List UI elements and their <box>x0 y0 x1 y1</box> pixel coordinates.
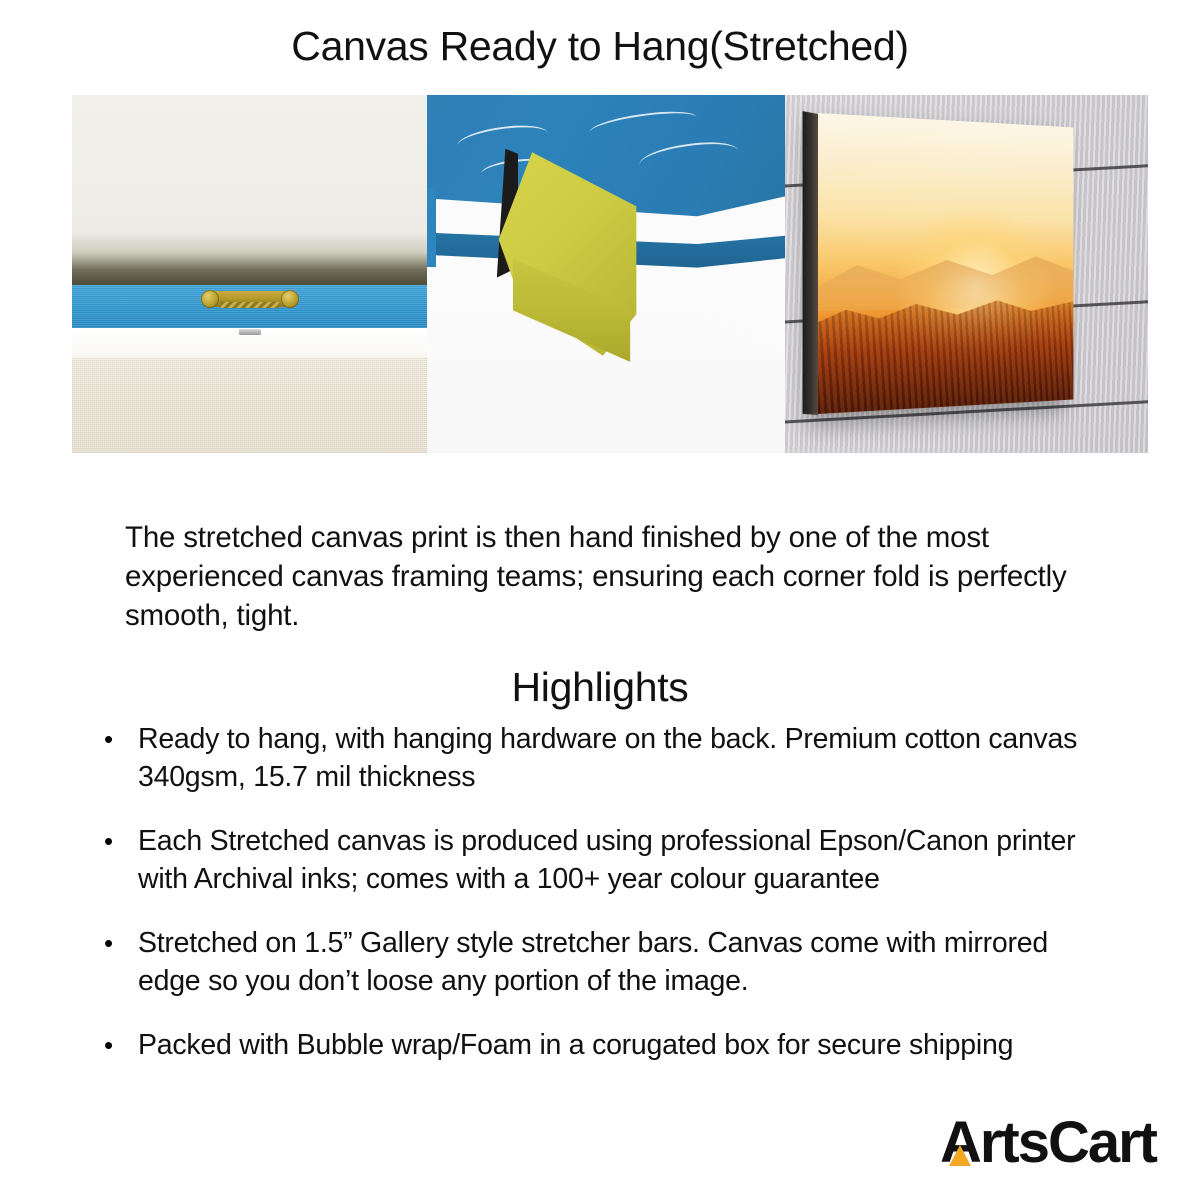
list-item: • Each Stretched canvas is produced usin… <box>104 822 1114 898</box>
photo-canvas-hung-on-wall <box>785 95 1148 453</box>
photo-canvas-back-hanging-hardware <box>72 95 427 453</box>
cloud-wisp <box>638 137 741 179</box>
list-item-text: Ready to hang, with hanging hardware on … <box>138 720 1114 796</box>
list-item-text: Each Stretched canvas is produced using … <box>138 822 1114 898</box>
canvas-depth-side <box>802 111 817 415</box>
hanger-screw-right <box>281 290 299 308</box>
canvas-sunset-artwork <box>818 113 1073 414</box>
orange-triangle-icon <box>949 1145 971 1166</box>
canvas-cotton-weave <box>72 358 427 453</box>
photo-canvas-corner-fold <box>427 95 785 453</box>
cloud-wisp <box>588 107 698 144</box>
list-item: • Stretched on 1.5” Gallery style stretc… <box>104 924 1114 1000</box>
intro-paragraph: The stretched canvas print is then hand … <box>125 518 1080 635</box>
bullet-dot-icon: • <box>104 1026 138 1064</box>
bullet-dot-icon: • <box>104 822 138 860</box>
hanger-teeth <box>221 302 279 308</box>
page-title: Canvas Ready to Hang(Stretched) <box>0 0 1200 76</box>
wall-nail <box>239 329 261 335</box>
sawtooth-hanger-icon <box>201 289 299 310</box>
bullet-dot-icon: • <box>104 720 138 758</box>
cloud-wisp <box>455 121 549 159</box>
hanger-screw-left <box>201 290 219 308</box>
list-item-text: Stretched on 1.5” Gallery style stretche… <box>138 924 1114 1000</box>
product-photo-strip <box>72 95 1148 453</box>
highlights-list: • Ready to hang, with hanging hardware o… <box>104 720 1114 1090</box>
logo-letter-a: A <box>940 1114 980 1172</box>
bullet-dot-icon: • <box>104 924 138 962</box>
artscart-logo: A rtsCart <box>940 1114 1156 1172</box>
list-item: • Ready to hang, with hanging hardware o… <box>104 720 1114 796</box>
logo-wordmark-rest: rtsCart <box>980 1114 1156 1172</box>
highlights-heading: Highlights <box>0 664 1200 711</box>
hung-canvas <box>818 113 1073 414</box>
canvas-left-sliver <box>427 188 436 267</box>
list-item: • Packed with Bubble wrap/Foam in a coru… <box>104 1026 1114 1064</box>
list-item-text: Packed with Bubble wrap/Foam in a coruga… <box>138 1026 1114 1064</box>
